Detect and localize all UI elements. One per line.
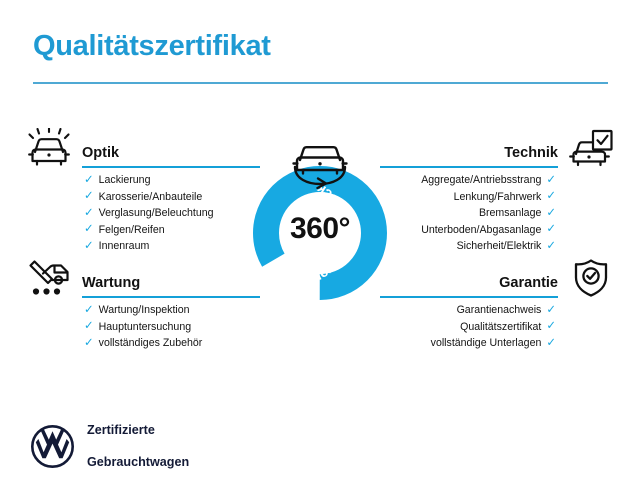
quality-certificate-page: Qualitätszertifikat: [0, 0, 640, 480]
list-item: ✓ vollständiges Zubehör: [84, 335, 244, 352]
footer-brand: Zertifizierte Gebrauchtwagen: [30, 406, 189, 486]
check-icon: ✓: [84, 191, 94, 203]
check-icon: ✓: [84, 241, 94, 253]
section-technik-list: Aggregate/Antriebsstrang ✓ Lenkung/Fahrw…: [396, 172, 616, 255]
list-item: ✓ Hauptuntersuchung: [84, 319, 244, 336]
list-item: Garantienachweis ✓: [396, 302, 556, 319]
section-technik-title: Technik: [504, 146, 558, 161]
item-label: Felgen/Reifen: [99, 222, 165, 239]
list-item: Aggregate/Antriebsstrang ✓: [396, 172, 556, 189]
item-label: Verglasung/Beleuchtung: [99, 205, 214, 222]
list-item: ✓ Wartung/Inspektion: [84, 302, 244, 319]
footer-line-1: Zertifizierte: [87, 422, 189, 438]
check-icon: ✓: [546, 224, 556, 236]
list-item: ✓ Innenraum: [84, 238, 244, 255]
item-label: Lackierung: [99, 172, 151, 189]
title-divider: [33, 82, 608, 84]
list-item: vollständige Unterlagen ✓: [396, 335, 556, 352]
list-item: ✓ Karosserie/Anbauteile: [84, 189, 244, 206]
check-icon: ✓: [546, 191, 556, 203]
check-icon: ✓: [84, 305, 94, 317]
section-garantie-header: Garantie: [396, 258, 616, 302]
list-item: Lenkung/Fahrwerk ✓: [396, 189, 556, 206]
item-label: Hauptuntersuchung: [99, 319, 191, 336]
section-garantie-title: Garantie: [499, 276, 558, 291]
item-label: Aggregate/Antriebsstrang: [421, 172, 541, 189]
item-label: Unterboden/Abgasanlage: [421, 222, 541, 239]
footer-text: Zertifizierte Gebrauchtwagen: [87, 406, 189, 486]
check-icon: ✓: [84, 338, 94, 350]
item-label: vollständiges Zubehör: [99, 335, 203, 352]
item-label: Garantienachweis: [457, 302, 542, 319]
list-item: ✓ Lackierung: [84, 172, 244, 189]
check-icon: ✓: [84, 208, 94, 220]
section-technik-header: Technik: [396, 128, 616, 172]
check-icon: ✓: [546, 175, 556, 187]
list-item: Qualitätszertifikat ✓: [396, 319, 556, 336]
vw-logo: [30, 424, 75, 469]
section-optik-header: Optik: [24, 128, 244, 172]
section-optik-title: Optik: [82, 146, 119, 161]
section-optik: Optik ✓ Lackierung ✓ Karosserie/Anbautei…: [24, 128, 244, 255]
item-label: Bremsanlage: [479, 205, 541, 222]
section-garantie: Garantie Garantienachweis ✓ Qualitätszer…: [396, 258, 616, 352]
car-checkbox-icon: [568, 128, 614, 168]
list-item: ✓ Verglasung/Beleuchtung: [84, 205, 244, 222]
page-title: Qualitätszertifikat: [33, 32, 271, 61]
shield-check-icon: [568, 258, 614, 298]
item-label: Karosserie/Anbauteile: [99, 189, 203, 206]
check-icon: ✓: [84, 175, 94, 187]
section-garantie-list: Garantienachweis ✓ Qualitätszertifikat ✓…: [396, 302, 616, 352]
badge-center-label: 360°: [270, 214, 370, 244]
section-wartung-header: Wartung: [24, 258, 244, 302]
section-wartung-list: ✓ Wartung/Inspektion ✓ Hauptuntersuchung…: [24, 302, 244, 352]
car-front-shine-icon: [26, 128, 72, 168]
list-item: Bremsanlage ✓: [396, 205, 556, 222]
item-label: vollständige Unterlagen: [431, 335, 542, 352]
check-icon: ✓: [546, 208, 556, 220]
list-item: ✓ Felgen/Reifen: [84, 222, 244, 239]
item-label: Wartung/Inspektion: [99, 302, 190, 319]
check-icon: ✓: [84, 224, 94, 236]
check-icon: ✓: [546, 305, 556, 317]
list-item: Unterboden/Abgasanlage ✓: [396, 222, 556, 239]
check-icon: ✓: [546, 321, 556, 333]
check-icon: ✓: [84, 321, 94, 333]
item-label: Sicherheit/Elektrik: [457, 238, 542, 255]
list-item: Sicherheit/Elektrik ✓: [396, 238, 556, 255]
footer-line-2: Gebrauchtwagen: [87, 454, 189, 470]
item-label: Lenkung/Fahrwerk: [454, 189, 542, 206]
check-icon: ✓: [546, 241, 556, 253]
section-optik-list: ✓ Lackierung ✓ Karosserie/Anbauteile ✓ V…: [24, 172, 244, 255]
check-icon: ✓: [546, 338, 556, 350]
section-technik: Technik Aggregate/Antriebsstrang ✓ Lenku…: [396, 128, 616, 255]
car-service-tool-icon: [26, 258, 72, 298]
item-label: Qualitätszertifikat: [460, 319, 541, 336]
section-wartung-title: Wartung: [82, 276, 140, 291]
item-label: Innenraum: [99, 238, 150, 255]
section-wartung: Wartung ✓ Wartung/Inspektion ✓ Hauptunte…: [24, 258, 244, 352]
